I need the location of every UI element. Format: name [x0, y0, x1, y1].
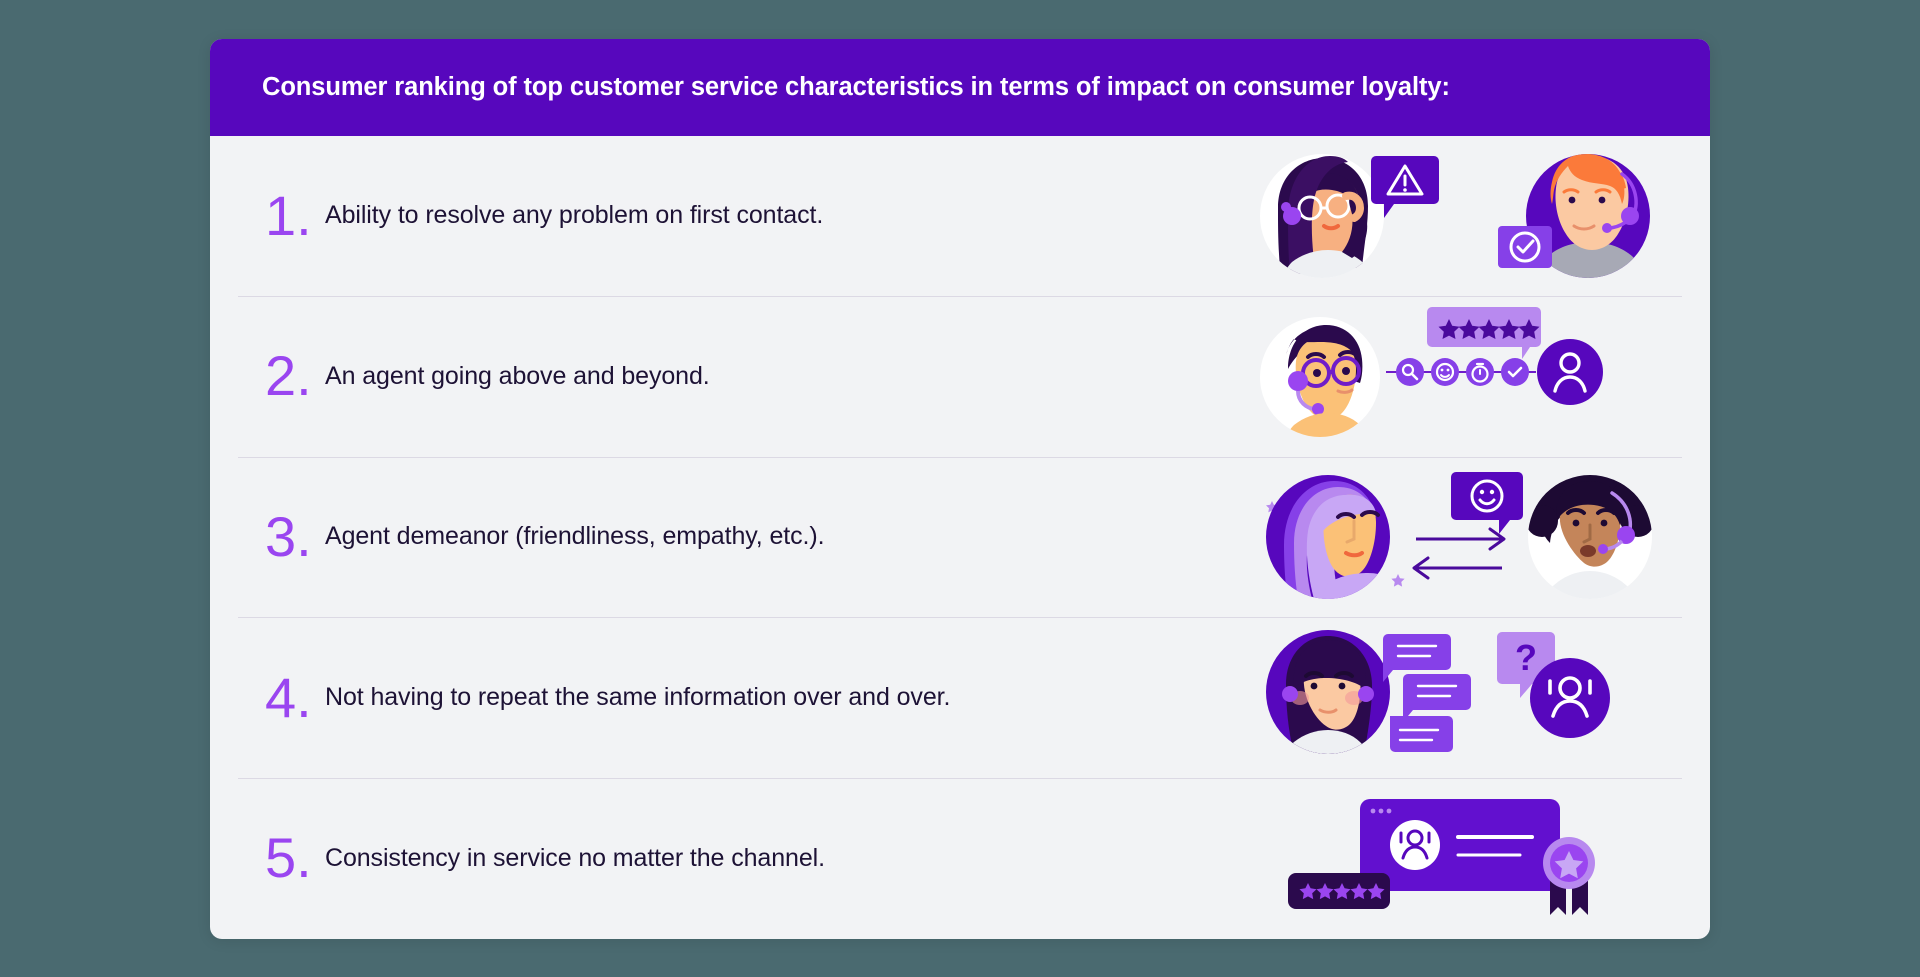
user-avatar-icon [1537, 339, 1603, 405]
chain-icon-stopwatch [1466, 358, 1494, 386]
browser-card [1360, 799, 1560, 891]
list-item-label: Not having to repeat the same informatio… [321, 683, 1250, 712]
ranking-list: 1. Ability to resolve any problem on fir… [210, 136, 1710, 939]
rank-number: 1. [265, 188, 321, 244]
smiley-bubble-icon [1451, 472, 1523, 534]
illustration-row-3 [1250, 459, 1670, 614]
rank-number: 5. [265, 830, 321, 886]
info-card: Consumer ranking of top customer service… [210, 39, 1710, 939]
page-background: Consumer ranking of top customer service… [0, 0, 1920, 977]
list-item: 5. Consistency in service no matter the … [210, 778, 1710, 939]
illustration-row-2 [1250, 299, 1670, 454]
illustration-row-5 [1250, 781, 1670, 936]
illustration-row-1 [1250, 138, 1670, 293]
agent-avatar-icon [1530, 658, 1610, 738]
list-item-label: An agent going above and beyond. [321, 362, 1250, 391]
chain-icon-smiley [1431, 358, 1459, 386]
check-bubble-icon [1498, 226, 1552, 268]
illustration-row-4: ? [1250, 620, 1670, 775]
window-dots [1371, 808, 1392, 813]
page-title: Consumer ranking of top customer service… [262, 72, 1450, 103]
rank-number: 3. [265, 509, 321, 565]
five-star-rating-bubble [1427, 307, 1541, 359]
svg-text:?: ? [1515, 637, 1537, 678]
card-header: Consumer ranking of top customer service… [210, 39, 1710, 136]
list-item: 4. Not having to repeat the same informa… [210, 617, 1710, 778]
list-item-label: Agent demeanor (friendliness, empathy, e… [321, 522, 1250, 551]
rank-number: 2. [265, 348, 321, 404]
list-item: 3. Agent demeanor (friendliness, empathy… [210, 457, 1710, 618]
rank-number: 4. [265, 670, 321, 726]
list-item-label: Ability to resolve any problem on first … [321, 201, 1250, 230]
award-badge-icon [1543, 837, 1595, 915]
chain-icon-check [1501, 358, 1529, 386]
star-rating-bar [1288, 873, 1390, 909]
list-item: 2. An agent going above and beyond. [210, 296, 1710, 457]
chain-icon-search [1396, 358, 1424, 386]
chat-bubble-icon-3 [1390, 716, 1453, 752]
chat-bubble-icon-2 [1403, 674, 1471, 722]
list-item: 1. Ability to resolve any problem on fir… [210, 136, 1710, 297]
list-item-label: Consistency in service no matter the cha… [321, 844, 1250, 873]
two-way-arrow-icons [1414, 529, 1504, 578]
